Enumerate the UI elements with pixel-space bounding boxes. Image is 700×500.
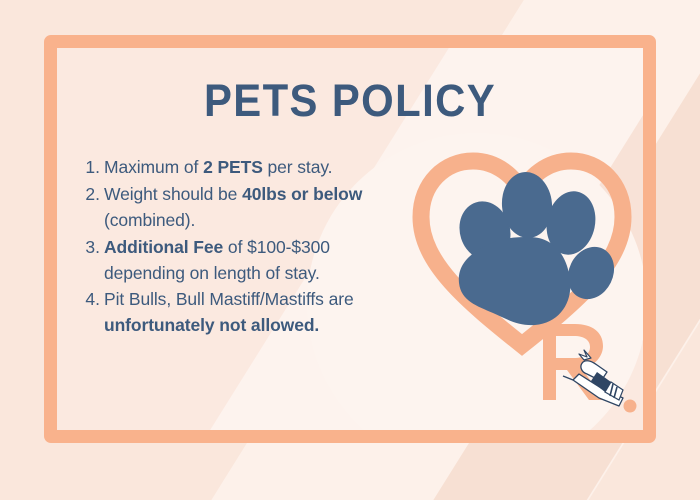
pets-policy-poster: PETS POLICY 1.Maximum of 2 PETS per stay…	[0, 0, 700, 500]
poster-frame-border	[44, 35, 656, 443]
